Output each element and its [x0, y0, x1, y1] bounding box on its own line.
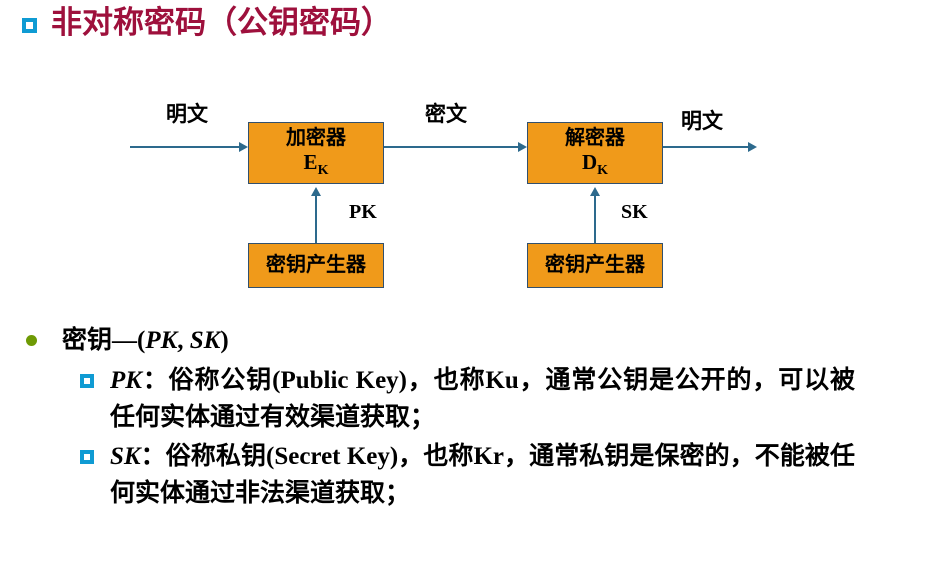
encryptor-box: 加密器 EK — [248, 122, 384, 184]
arrow-line-decryptor-to-plaintext — [663, 146, 748, 148]
bullet-list: 密钥—(PK, SK) PK：俗称公钥(Public Key)，也称Ku，通常公… — [0, 325, 927, 514]
label-plaintext-output: 明文 — [681, 105, 723, 135]
arrow-head-sk-icon — [590, 187, 600, 196]
encryptor-label: 加密器 — [286, 127, 346, 150]
label-public-key: PK — [349, 201, 377, 224]
label-plaintext-input: 明文 — [166, 98, 208, 128]
list-item: 密钥—(PK, SK) — [0, 325, 927, 356]
decryptor-label: 解密器 — [565, 127, 625, 150]
arrow-line-encryptor-to-decryptor — [384, 146, 518, 148]
arrow-head-output-icon — [748, 142, 757, 152]
public-key-description: PK：俗称公钥(Public Key)，也称Ku，通常公钥是公开的，可以被任何实… — [110, 362, 855, 436]
arrow-line-plaintext-to-encryptor — [130, 146, 239, 148]
key-generator-left-label: 密钥产生器 — [266, 254, 366, 277]
decryptor-box: 解密器 DK — [527, 122, 663, 184]
list-item: SK：俗称私钥(Secret Key)，也称Kr，通常私钥是保密的，不能被任何实… — [0, 438, 927, 512]
crypto-flow-diagram: 加密器 EK 解密器 DK 密钥产生器 密钥产生器 明文 密文 明文 PK SK — [0, 0, 927, 320]
decryptor-symbol: DK — [582, 150, 608, 179]
key-pair-text: 密钥—(PK, SK) — [62, 325, 229, 356]
list-item: PK：俗称公钥(Public Key)，也称Ku，通常公钥是公开的，可以被任何实… — [0, 362, 927, 436]
arrow-line-keygen-left-to-encryptor — [315, 196, 317, 243]
key-generator-left-box: 密钥产生器 — [248, 243, 384, 288]
arrow-head-into-decryptor-icon — [518, 142, 527, 152]
arrow-line-keygen-right-to-decryptor — [594, 196, 596, 243]
label-ciphertext: 密文 — [425, 98, 467, 128]
round-bullet-icon — [26, 335, 37, 346]
arrow-head-pk-icon — [311, 187, 321, 196]
key-generator-right-label: 密钥产生器 — [545, 254, 645, 277]
square-bullet-icon — [80, 374, 94, 388]
square-bullet-icon — [80, 450, 94, 464]
secret-key-description: SK：俗称私钥(Secret Key)，也称Kr，通常私钥是保密的，不能被任何实… — [110, 438, 855, 512]
label-secret-key: SK — [621, 201, 648, 224]
key-generator-right-box: 密钥产生器 — [527, 243, 663, 288]
encryptor-symbol: EK — [304, 150, 329, 179]
arrow-head-into-encryptor-icon — [239, 142, 248, 152]
